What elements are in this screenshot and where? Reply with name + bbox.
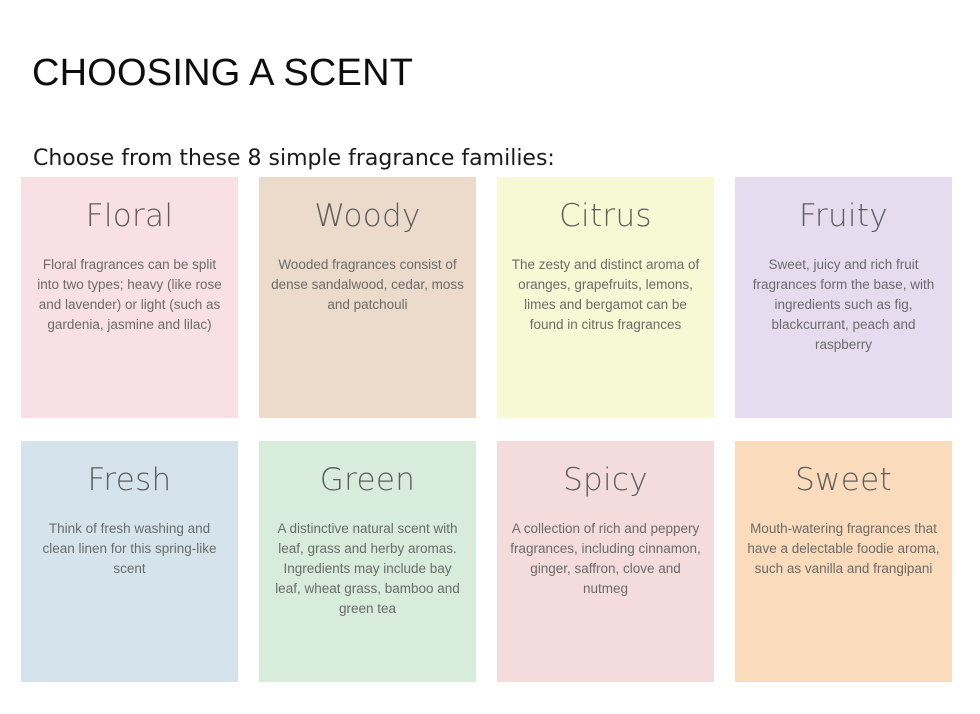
page-subtitle: Choose from these 8 simple fragrance fam…	[33, 146, 555, 172]
fragrance-card-title: Sweet	[747, 441, 940, 499]
fragrance-card-title: Fruity	[747, 177, 940, 235]
fragrance-card-description: Mouth-watering fragrances that have a de…	[747, 499, 940, 579]
fragrance-card-description: The zesty and distinct aroma of oranges,…	[509, 235, 702, 335]
fragrance-card-green[interactable]: Green A distinctive natural scent with l…	[259, 441, 476, 682]
fragrance-card-spicy[interactable]: Spicy A collection of rich and peppery f…	[497, 441, 714, 682]
fragrance-card-description: Sweet, juicy and rich fruit fragrances f…	[747, 235, 940, 355]
fragrance-card-woody[interactable]: Woody Wooded fragrances consist of dense…	[259, 177, 476, 418]
fragrance-card-fresh[interactable]: Fresh Think of fresh washing and clean l…	[21, 441, 238, 682]
fragrance-card-title: Spicy	[509, 441, 702, 499]
fragrance-card-title: Citrus	[509, 177, 702, 235]
fragrance-card-description: Think of fresh washing and clean linen f…	[33, 499, 226, 579]
fragrance-card-title: Floral	[33, 177, 226, 235]
fragrance-card-title: Green	[271, 441, 464, 499]
fragrance-card-description: A distinctive natural scent with leaf, g…	[271, 499, 464, 619]
fragrance-card-sweet[interactable]: Sweet Mouth-watering fragrances that hav…	[735, 441, 952, 682]
fragrance-card-fruity[interactable]: Fruity Sweet, juicy and rich fruit fragr…	[735, 177, 952, 418]
fragrance-card-description: A collection of rich and peppery fragran…	[509, 499, 702, 599]
fragrance-card-title: Woody	[271, 177, 464, 235]
page-title: CHOOSING A SCENT	[32, 53, 413, 95]
fragrance-card-description: Wooded fragrances consist of dense sanda…	[271, 235, 464, 315]
fragrance-card-description: Floral fragrances can be split into two …	[33, 235, 226, 335]
fragrance-family-grid: Floral Floral fragrances can be split in…	[21, 177, 953, 683]
fragrance-card-floral[interactable]: Floral Floral fragrances can be split in…	[21, 177, 238, 418]
fragrance-card-citrus[interactable]: Citrus The zesty and distinct aroma of o…	[497, 177, 714, 418]
fragrance-card-title: Fresh	[33, 441, 226, 499]
slide-canvas: CHOOSING A SCENT Choose from these 8 sim…	[0, 0, 980, 714]
